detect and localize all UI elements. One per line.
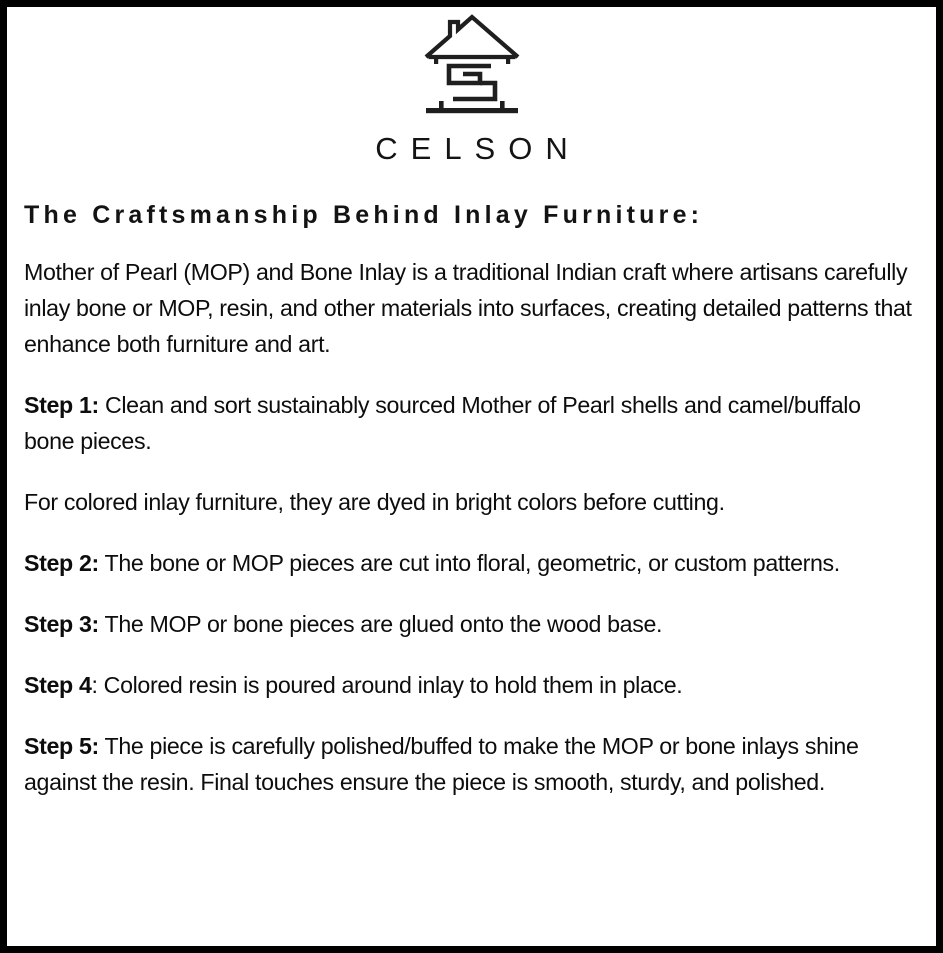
step-label: Step 5: bbox=[24, 733, 99, 759]
brand-block: CELSON bbox=[17, 7, 926, 164]
poster-content: CELSON The Craftsmanship Behind Inlay Fu… bbox=[7, 7, 936, 946]
paragraph-text: For colored inlay furniture, they are dy… bbox=[24, 489, 725, 515]
page-title: The Craftsmanship Behind Inlay Furniture… bbox=[24, 201, 926, 230]
paragraph-text: The bone or MOP pieces are cut into flor… bbox=[99, 550, 840, 576]
step-label: Step 3: bbox=[24, 611, 99, 637]
paragraph-text: Mother of Pearl (MOP) and Bone Inlay is … bbox=[24, 259, 912, 357]
paragraph-step-4: Step 4: Colored resin is poured around i… bbox=[24, 667, 916, 703]
paragraph-intro: Mother of Pearl (MOP) and Bone Inlay is … bbox=[24, 254, 916, 362]
paragraph-dye-note: For colored inlay furniture, they are dy… bbox=[24, 484, 916, 520]
paragraph-text: The MOP or bone pieces are glued onto th… bbox=[99, 611, 662, 637]
brand-name: CELSON bbox=[17, 133, 926, 164]
paragraph-step-2: Step 2: The bone or MOP pieces are cut i… bbox=[24, 545, 916, 581]
step-label: Step 1: bbox=[24, 392, 99, 418]
paragraph-text: The piece is carefully polished/buffed t… bbox=[24, 733, 859, 795]
article-body: Mother of Pearl (MOP) and Bone Inlay is … bbox=[24, 230, 916, 800]
paragraph-text: Clean and sort sustainably sourced Mothe… bbox=[24, 392, 861, 454]
paragraph-text: Colored resin is poured around inlay to … bbox=[98, 672, 683, 698]
paragraph-step-1: Step 1: Clean and sort sustainably sourc… bbox=[24, 387, 916, 459]
house-monogram-logo-icon bbox=[420, 13, 524, 117]
paragraph-step-3: Step 3: The MOP or bone pieces are glued… bbox=[24, 606, 916, 642]
step-label: Step 4 bbox=[24, 672, 92, 698]
step-label: Step 2: bbox=[24, 550, 99, 576]
paragraph-step-5: Step 5: The piece is carefully polished/… bbox=[24, 728, 916, 800]
poster-frame: CELSON The Craftsmanship Behind Inlay Fu… bbox=[0, 0, 943, 953]
